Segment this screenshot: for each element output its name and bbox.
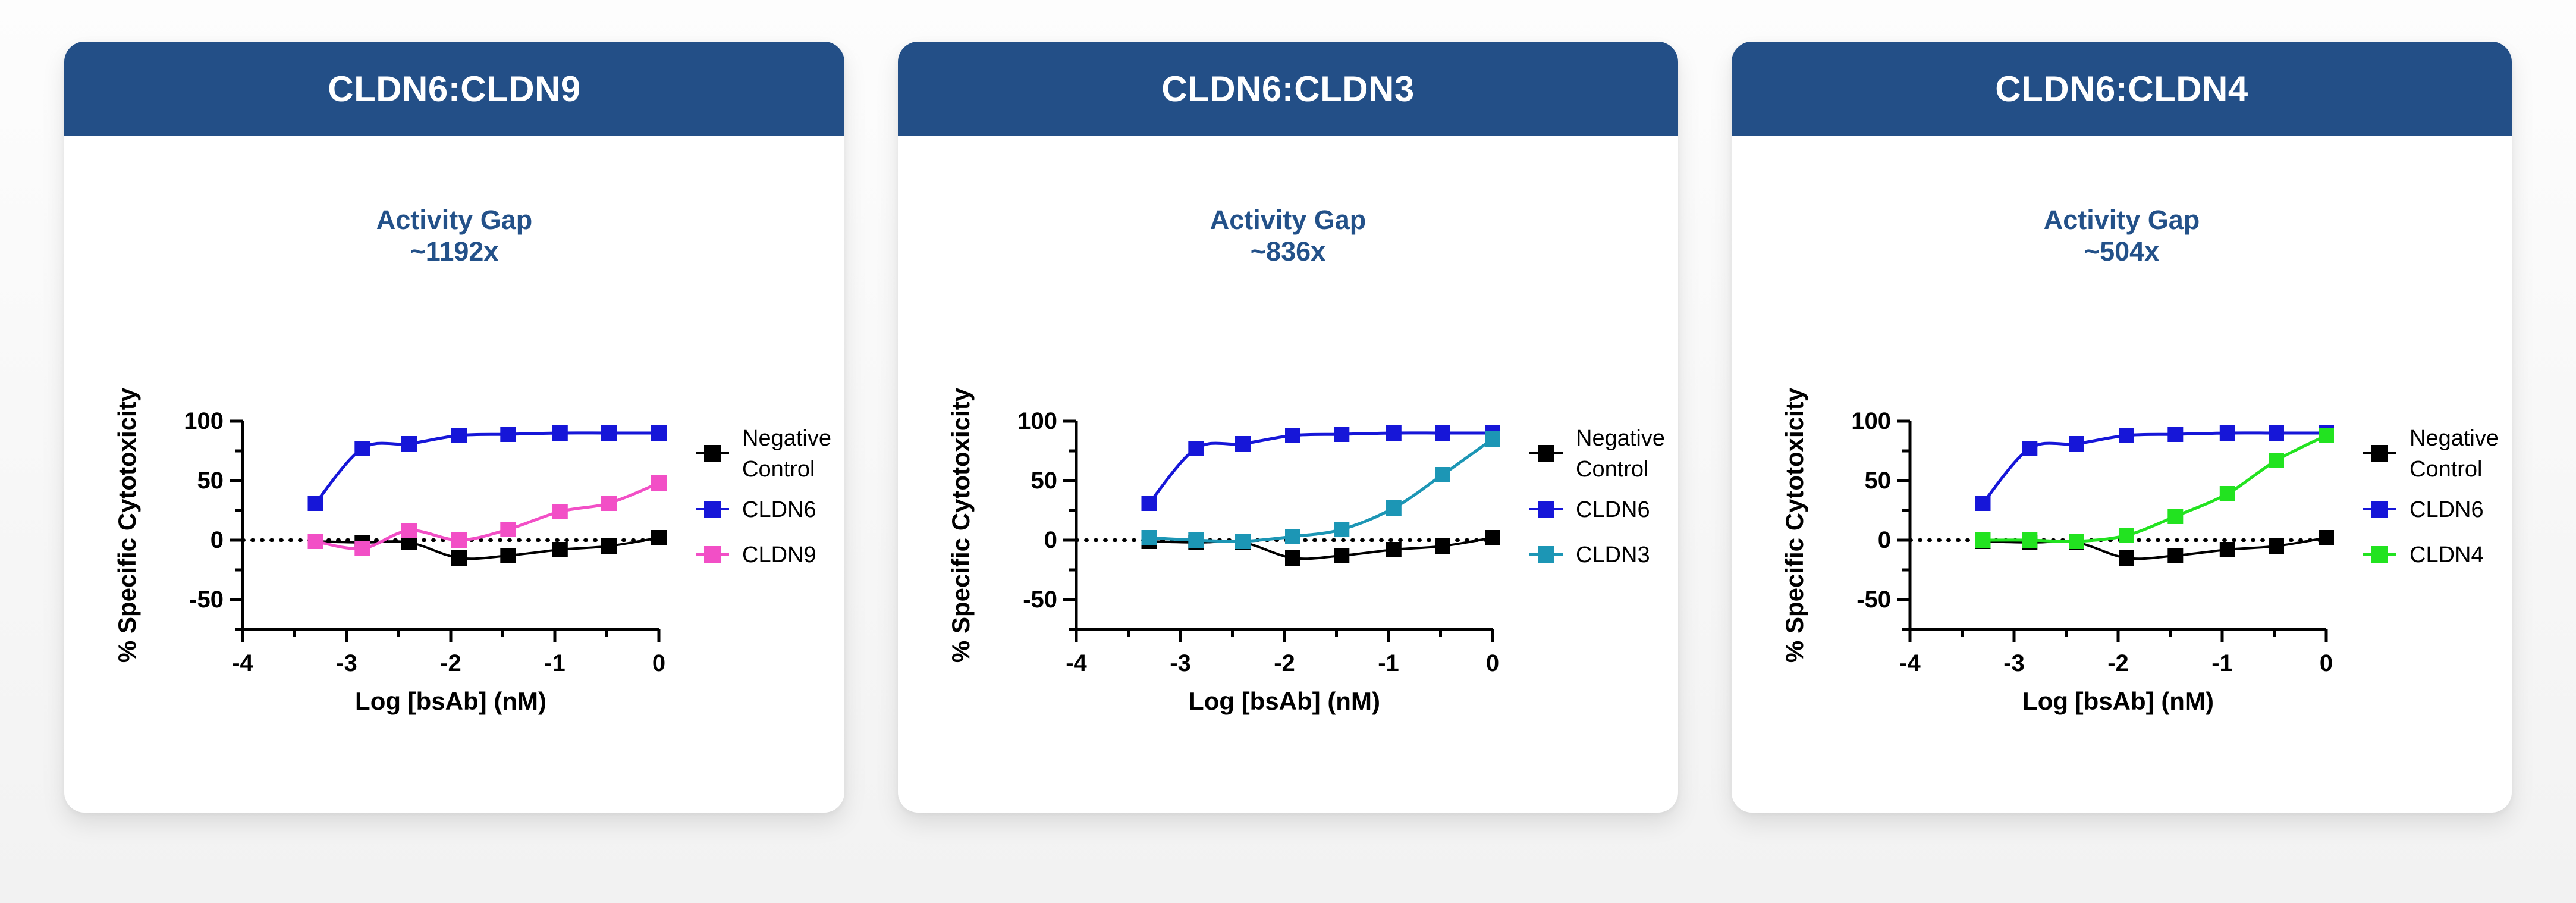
data-point-marker [1975,496,1991,511]
data-point-marker [401,523,417,538]
legend-swatch [2371,445,2388,462]
result-card: CLDN6:CLDN3Activity Gap~836x100500-50-4-… [898,42,1678,813]
x-axis-title: Log [bsAb] (nM) [355,687,546,715]
legend-label: Negative [2409,426,2499,451]
data-point-marker [601,496,617,511]
data-point-marker [1334,548,1349,563]
y-tick-label: 50 [1865,468,1892,494]
legend-swatch [2371,501,2388,518]
data-point-marker [2220,425,2235,441]
y-tick-label: -50 [1856,587,1891,613]
data-point-marker [2022,532,2037,548]
data-point-marker [1435,425,1450,441]
y-tick-label: 0 [1044,527,1057,553]
data-point-marker [2220,542,2235,557]
panel-deck: CLDN6:CLDN9Activity Gap~1192x100500-50-4… [0,0,2576,813]
data-point-marker [2119,550,2134,566]
axes-group: 100500-50-4-3-2-10 [1851,408,2333,676]
data-point-marker [1142,496,1157,511]
card-body: Activity Gap~504x100500-50-4-3-2-10% Spe… [1732,136,2512,813]
data-point-marker [2119,528,2134,543]
data-point-marker [2269,538,2284,554]
legend-swatch [1538,501,1554,518]
legend-swatch [704,501,721,518]
data-point-marker [2167,509,2183,524]
legend-label: CLDN6 [742,497,816,522]
data-point-marker [1975,532,1991,548]
data-point-marker [552,504,568,519]
card-title: CLDN6:CLDN4 [1995,68,2248,109]
data-point-marker [552,425,568,441]
card-header: CLDN6:CLDN9 [64,42,844,136]
data-point-marker [1334,427,1349,442]
x-tick-label: -2 [440,650,461,676]
data-point-marker [2319,428,2334,443]
card-body: Activity Gap~1192x100500-50-4-3-2-10% Sp… [64,136,844,813]
x-tick-label: -3 [1170,650,1191,676]
activity-gap-block: Activity Gap~504x [1732,204,2512,267]
data-point-marker [552,542,568,557]
data-point-marker [651,530,667,545]
data-point-marker [1485,530,1500,545]
legend-label: Control [2409,457,2483,482]
data-point-marker [1235,534,1251,549]
data-point-marker [1285,529,1300,544]
data-point-marker [2319,530,2334,545]
y-tick-label: 100 [184,408,224,434]
x-axis-title: Log [bsAb] (nM) [2022,687,2214,715]
plot-area: 100500-50-4-3-2-10% Specific Cytotoxicit… [64,332,844,748]
data-point-marker [2069,534,2084,549]
data-point-marker [354,441,370,456]
data-point-marker [2269,453,2284,468]
x-tick-label: -3 [2003,650,2025,676]
x-tick-label: 0 [1486,650,1499,676]
card-header: CLDN6:CLDN4 [1732,42,2512,136]
x-tick-label: -1 [1378,650,1399,676]
data-point-marker [451,550,467,566]
y-tick-label: 50 [197,468,224,494]
data-point-marker [1386,500,1402,516]
x-tick-label: 0 [2320,650,2333,676]
data-point-marker [1188,441,1204,456]
data-point-marker [500,522,516,537]
legend-swatch [704,445,721,462]
data-point-marker [451,532,467,548]
data-point-marker [308,534,323,549]
data-point-marker [601,538,617,554]
data-point-marker [308,496,323,511]
cytotoxicity-chart: 100500-50-4-3-2-10% Specific Cytotoxicit… [1732,332,2512,748]
legend-label: CLDN6 [2409,497,2484,522]
data-point-marker [451,428,467,443]
y-axis-title: % Specific Cytotoxicity [947,387,975,663]
x-axis-title: Log [bsAb] (nM) [1189,687,1380,715]
y-tick-label: 0 [211,527,224,553]
card-title: CLDN6:CLDN3 [1161,68,1415,109]
card-title: CLDN6:CLDN9 [328,68,581,109]
data-point-marker [500,548,516,563]
cytotoxicity-chart: 100500-50-4-3-2-10% Specific Cytotoxicit… [64,332,844,748]
activity-gap-label: Activity Gap [898,204,1678,236]
data-point-marker [2022,441,2037,456]
x-tick-label: -2 [2107,650,2129,676]
axes-group: 100500-50-4-3-2-10 [1017,408,1499,676]
card-header: CLDN6:CLDN3 [898,42,1678,136]
legend-label: CLDN9 [742,543,816,567]
axes-group: 100500-50-4-3-2-10 [184,408,665,676]
data-point-marker [1386,542,1402,557]
result-card: CLDN6:CLDN4Activity Gap~504x100500-50-4-… [1732,42,2512,813]
data-point-marker [1142,530,1157,545]
data-point-marker [651,425,667,441]
data-point-marker [1188,532,1204,548]
x-tick-label: -4 [1899,650,1921,676]
data-point-marker [1435,538,1450,554]
legend-label: Control [742,457,815,482]
data-point-marker [1386,425,1402,441]
y-axis-title: % Specific Cytotoxicity [1780,387,1808,663]
chart-legend: NegativeControlCLDN6CLDN9 [696,426,831,567]
y-tick-label: -50 [189,587,224,613]
x-tick-label: -4 [232,650,253,676]
activity-gap-value: ~836x [898,236,1678,267]
x-tick-label: -4 [1066,650,1087,676]
data-point-marker [2269,425,2284,441]
legend-label: Negative [742,426,831,451]
data-point-marker [1235,436,1251,451]
legend-swatch [1538,546,1554,563]
x-tick-label: -2 [1274,650,1295,676]
data-point-marker [2167,548,2183,563]
activity-gap-label: Activity Gap [64,204,844,236]
y-axis-title: % Specific Cytotoxicity [113,387,141,663]
data-point-marker [1285,428,1300,443]
plot-area: 100500-50-4-3-2-10% Specific Cytotoxicit… [1732,332,2512,748]
data-point-marker [1435,467,1450,482]
chart-legend: NegativeControlCLDN6CLDN4 [2363,426,2499,567]
data-point-marker [2069,436,2084,451]
y-tick-label: -50 [1023,587,1057,613]
data-point-marker [2220,486,2235,501]
activity-gap-block: Activity Gap~836x [898,204,1678,267]
data-point-marker [1334,522,1349,537]
x-tick-label: -1 [2211,650,2233,676]
data-point-marker [651,475,667,491]
plot-area: 100500-50-4-3-2-10% Specific Cytotoxicit… [898,332,1678,748]
data-point-marker [2167,427,2183,442]
legend-label: CLDN3 [1576,543,1650,567]
card-body: Activity Gap~836x100500-50-4-3-2-10% Spe… [898,136,1678,813]
activity-gap-value: ~1192x [64,236,844,267]
data-point-marker [500,427,516,442]
legend-label: Control [1576,457,1649,482]
data-point-marker [1285,550,1300,566]
data-point-marker [2119,428,2134,443]
activity-gap-value: ~504x [1732,236,2512,267]
legend-swatch [1538,445,1554,462]
y-tick-label: 50 [1031,468,1058,494]
data-point-marker [401,436,417,451]
data-point-marker [1485,431,1500,447]
x-tick-label: 0 [652,650,665,676]
x-tick-label: -1 [544,650,566,676]
legend-swatch [704,546,721,563]
y-tick-label: 100 [1017,408,1057,434]
x-tick-label: -3 [336,650,357,676]
y-tick-label: 100 [1851,408,1891,434]
activity-gap-block: Activity Gap~1192x [64,204,844,267]
result-card: CLDN6:CLDN9Activity Gap~1192x100500-50-4… [64,42,844,813]
chart-legend: NegativeControlCLDN6CLDN3 [1529,426,1665,567]
data-point-marker [601,425,617,441]
legend-label: CLDN6 [1576,497,1650,522]
legend-label: Negative [1576,426,1665,451]
data-point-marker [354,541,370,556]
legend-label: CLDN4 [2409,543,2484,567]
legend-swatch [2371,546,2388,563]
cytotoxicity-chart: 100500-50-4-3-2-10% Specific Cytotoxicit… [898,332,1678,748]
activity-gap-label: Activity Gap [1732,204,2512,236]
y-tick-label: 0 [1878,527,1891,553]
